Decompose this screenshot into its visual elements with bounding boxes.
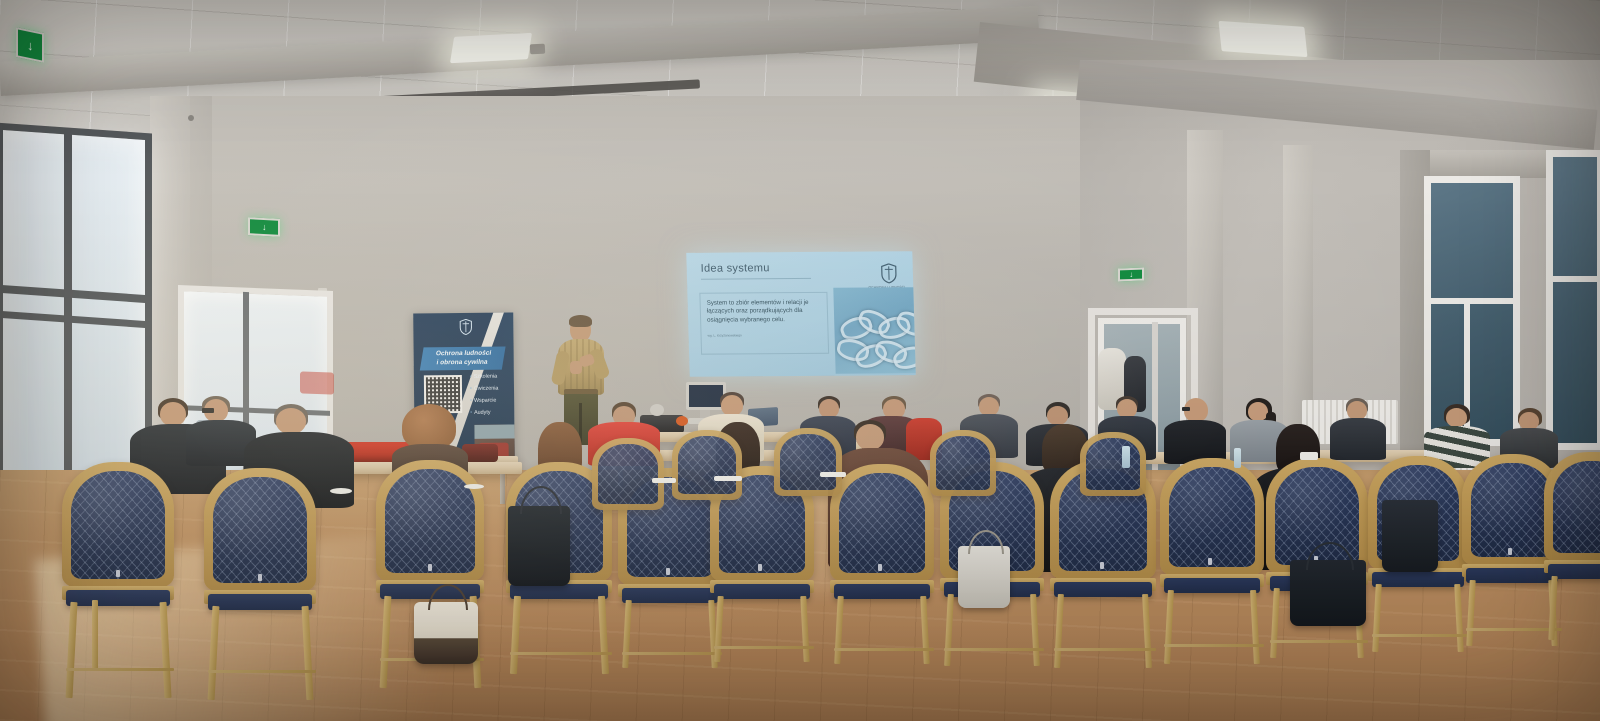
banquet-chair[interactable]	[592, 438, 664, 512]
outdoor-red-object	[300, 371, 334, 394]
banquet-chair[interactable]	[774, 428, 842, 496]
emergency-exit-icon: ↓	[1118, 268, 1144, 282]
exit-glyph: ↓	[262, 222, 266, 232]
window-transom	[1428, 298, 1516, 304]
window-right	[1546, 150, 1600, 450]
presenter-belt	[564, 389, 598, 394]
banquet-chair[interactable]	[204, 468, 316, 700]
ceiling-light-panel	[1219, 21, 1308, 57]
paper-sheet	[652, 478, 676, 483]
paper-plate	[330, 488, 352, 494]
banner-headline-line2: i obrona cywilna	[424, 358, 499, 367]
orange-equipment	[676, 416, 688, 426]
person-head	[1446, 408, 1467, 427]
glasses-icon	[202, 408, 214, 413]
banquet-chair[interactable]	[1544, 452, 1600, 640]
person-head	[1047, 406, 1068, 425]
person-head	[856, 424, 884, 450]
window-transom	[1549, 276, 1600, 282]
backpack	[1382, 500, 1438, 572]
shield-crest-logo	[459, 319, 472, 335]
presenter-hair	[569, 315, 592, 327]
exit-glyph: ↓	[27, 37, 33, 53]
water-bottle	[1122, 446, 1130, 468]
handbag	[508, 506, 570, 586]
tote-bag	[414, 602, 478, 664]
banner-service-item: Ćwiczenia	[470, 382, 514, 394]
paper-plate	[464, 484, 484, 489]
banner-service-item: Audyty	[470, 406, 514, 418]
slide-chain-image	[833, 287, 915, 374]
banquet-chair[interactable]	[1160, 458, 1264, 664]
banquet-chair[interactable]	[830, 464, 934, 664]
banner-headline-line1: Ochrona ludności	[426, 350, 501, 359]
person-head	[721, 395, 743, 416]
banner-service-item: Szkolenia	[470, 370, 514, 382]
projection-slide: Idea systemu OCHRONA LUDNOŚCI System to …	[686, 251, 916, 377]
conference-room-photo: ↓ ↓ ↓ Idea systemu OCHRONA LUDNOŚCI Syst…	[0, 0, 1600, 721]
person-head	[160, 402, 186, 426]
glasses-icon	[1182, 407, 1190, 411]
ceiling-sensor-icon	[188, 115, 194, 121]
person-head	[1248, 402, 1268, 421]
person-head	[276, 408, 306, 434]
banner-service-list: Szkolenia Ćwiczenia Wsparcie Audyty	[470, 370, 514, 418]
paper-sheet	[714, 476, 742, 481]
cup	[1300, 452, 1318, 460]
banquet-chair[interactable]	[1080, 432, 1146, 496]
slide-title: Idea systemu	[701, 262, 770, 274]
exit-glyph: ↓	[1129, 270, 1133, 279]
emergency-exit-icon: ↓	[16, 27, 44, 63]
emergency-exit-icon: ↓	[248, 217, 280, 237]
slide-title-rule	[701, 278, 811, 280]
banquet-chair[interactable]	[672, 430, 742, 500]
banquet-chair[interactable]	[62, 462, 174, 698]
slide-text-box: System to zbiór elementów i relacji je ł…	[699, 292, 829, 355]
shoulder-bag	[958, 546, 1010, 608]
slide-body-text: System to zbiór elementów i relacji je ł…	[707, 299, 824, 325]
paper-sheet	[820, 472, 846, 477]
slide-source-note: wg. L. Krzyżanowskiego	[708, 333, 742, 337]
banner-service-item: Wsparcie	[470, 394, 514, 406]
water-bottle	[1234, 448, 1241, 468]
banner-headline: Ochrona ludności i obrona cywilna	[420, 347, 506, 371]
shield-crest-logo	[881, 263, 898, 283]
banner-photo-sky	[474, 424, 514, 438]
audience-member	[1164, 398, 1226, 464]
ceiling-light-panel	[450, 33, 532, 63]
banquet-chair[interactable]	[930, 430, 996, 496]
ceiling-fitting	[530, 44, 546, 55]
